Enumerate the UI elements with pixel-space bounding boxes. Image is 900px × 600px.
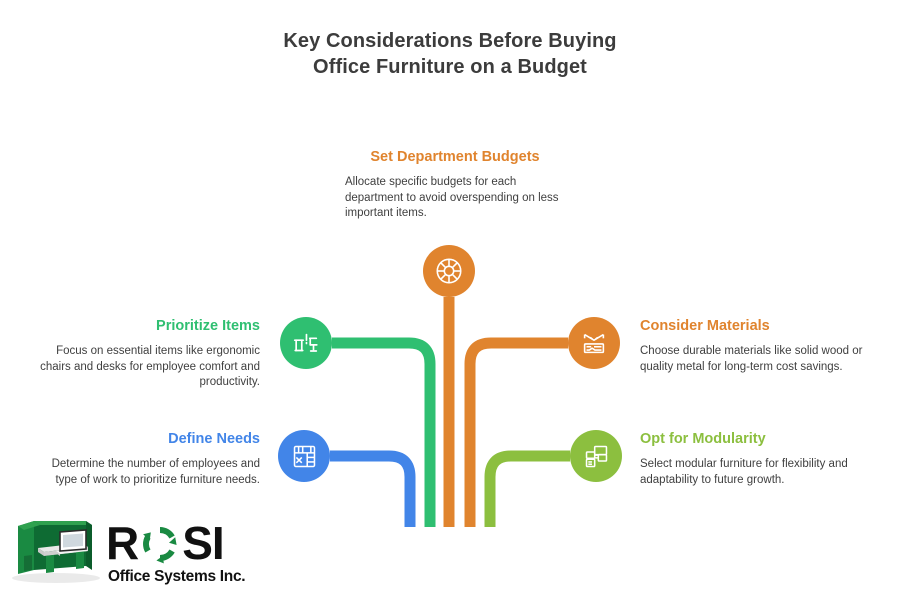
floor-plan-icon — [290, 442, 319, 471]
office-cubicle-icon — [8, 573, 104, 590]
connector-define-needs — [330, 456, 410, 527]
body-consider-materials: Choose durable materials like solid wood… — [640, 344, 870, 375]
node-set-department-budgets[interactable] — [423, 245, 475, 297]
logo-wordmark: R SI — [106, 520, 224, 566]
pie-chart-icon — [434, 256, 464, 286]
logo-wordmark-r: R — [106, 517, 138, 569]
logo-tagline: Office Systems Inc. — [108, 568, 245, 585]
block-prioritize-items: Prioritize Items Focus on essential item… — [30, 317, 260, 391]
body-prioritize-items: Focus on essential items like ergonomic … — [30, 344, 260, 391]
heading-define-needs: Define Needs — [30, 430, 260, 448]
node-prioritize-items[interactable] — [280, 317, 332, 369]
logo-wordmark-si: SI — [182, 517, 223, 569]
node-define-needs[interactable] — [278, 430, 330, 482]
node-opt-for-modularity[interactable] — [570, 430, 622, 482]
infographic-canvas: Key Considerations Before Buying Office … — [0, 0, 900, 600]
block-opt-for-modularity: Opt for Modularity Select modular furnit… — [640, 430, 870, 488]
node-consider-materials[interactable] — [568, 317, 620, 369]
recycle-arrows-icon — [138, 522, 182, 573]
block-define-needs: Define Needs Determine the number of emp… — [30, 430, 260, 488]
block-set-department-budgets: Set Department Budgets Allocate specific… — [345, 148, 565, 222]
logo-recycle-o — [138, 522, 182, 566]
wood-material-icon — [579, 328, 609, 358]
modular-blocks-icon — [582, 442, 611, 471]
connector-diagram — [0, 0, 900, 600]
block-consider-materials: Consider Materials Choose durable materi… — [640, 317, 870, 375]
heading-opt-for-modularity: Opt for Modularity — [640, 430, 870, 448]
rosi-logo[interactable]: R SI Office Systems Inc. — [8, 512, 260, 596]
body-opt-for-modularity: Select modular furniture for flexibility… — [640, 457, 870, 488]
body-set-department-budgets: Allocate specific budgets for each depar… — [345, 175, 565, 222]
heading-set-department-budgets: Set Department Budgets — [345, 148, 565, 166]
heading-consider-materials: Consider Materials — [640, 317, 870, 335]
connector-opt-for-modularity — [490, 456, 570, 527]
heading-prioritize-items: Prioritize Items — [30, 317, 260, 335]
desk-chair-icon — [291, 328, 321, 358]
body-define-needs: Determine the number of employees and ty… — [30, 457, 260, 488]
